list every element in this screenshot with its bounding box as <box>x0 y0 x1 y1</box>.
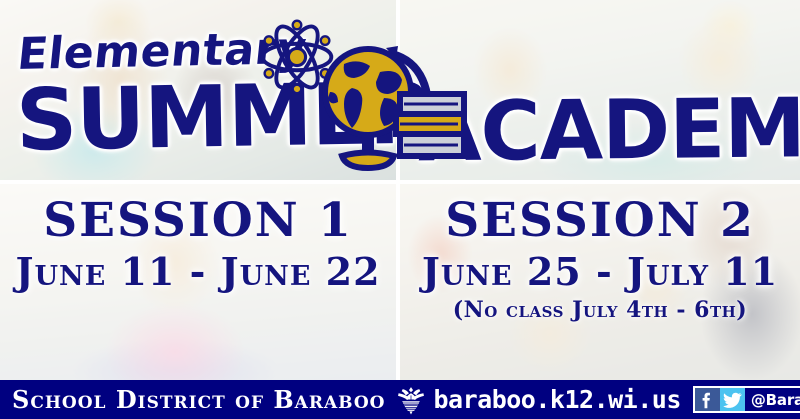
social-badge[interactable]: @BarabooSD <box>693 386 800 413</box>
footer-bar: School District of Baraboo bar <box>0 380 800 419</box>
social-handle[interactable]: @BarabooSD <box>745 388 800 411</box>
headline-academy: ACADEMY <box>418 88 800 175</box>
session-2-block: SESSION 2 June 25 - July 11 (No class Ju… <box>400 196 800 323</box>
district-website-url[interactable]: baraboo.k12.wi.us <box>434 385 681 414</box>
twitter-bird-glyph <box>722 389 743 410</box>
session-2-dates: June 25 - July 11 <box>400 251 800 293</box>
session-2-note: (No class July 4th - 6th) <box>400 297 800 323</box>
headline-block: Elementary SUMMER ACADEMY <box>0 0 800 180</box>
globe-and-books-icon <box>300 30 470 180</box>
facebook-icon[interactable] <box>695 388 720 411</box>
facebook-f-glyph <box>696 389 718 411</box>
district-name: School District of Baraboo <box>12 385 386 414</box>
session-1-title: SESSION 1 <box>0 196 396 245</box>
session-1-dates: June 11 - June 22 <box>0 251 396 293</box>
session-1-block: SESSION 1 June 11 - June 22 <box>0 196 396 293</box>
twitter-icon[interactable] <box>720 388 745 411</box>
session-2-title: SESSION 2 <box>400 196 800 245</box>
summer-academy-poster: Elementary SUMMER ACADEMY <box>0 0 800 419</box>
eagle-crest-icon <box>395 385 427 415</box>
